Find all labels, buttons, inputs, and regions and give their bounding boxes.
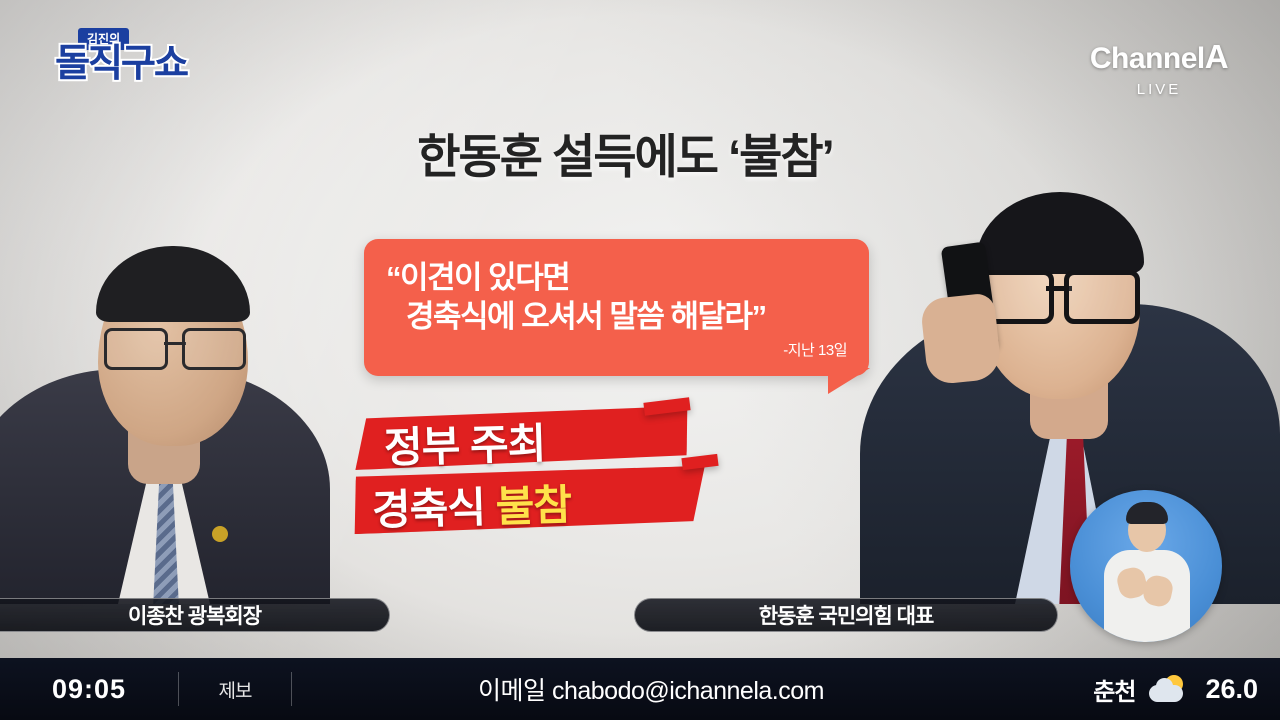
- program-logo-title: 돌직구쇼: [46, 45, 196, 85]
- left-guest-glasses-icon: [102, 328, 248, 366]
- banner-line-1: 정부 주최: [383, 410, 546, 475]
- keyword-banner: 정부 주최 경축식 불참: [352, 404, 712, 546]
- right-guest-glasses-icon: [978, 270, 1140, 316]
- banner-line-2-highlight: 불참: [495, 481, 572, 530]
- tip-label: 제보: [179, 676, 291, 703]
- right-guest-hair: [976, 192, 1144, 274]
- quote-bubble-tail: [828, 368, 870, 394]
- nameplate-right: 한동훈 국민의힘 대표: [634, 598, 1058, 632]
- program-logo: 김진의 돌직구쇼 돌직구쇼: [46, 28, 196, 104]
- left-guest-lapel-badge: [212, 526, 228, 542]
- weather-city: 춘천: [1093, 672, 1135, 707]
- broadcast-screen: 김진의 돌직구쇼 돌직구쇼 ChannelA LIVE 한동훈 설득에도 ‘불참…: [0, 0, 1280, 720]
- quote-bubble: “이견이 있다면 경축식에 오셔서 말씀 해달라” -지난 13일: [364, 239, 869, 376]
- right-guest-hand: [920, 292, 1003, 385]
- quote-attribution: -지난 13일: [386, 339, 847, 360]
- banner-line-2: 경축식 불참: [371, 471, 572, 538]
- channel-name: ChannelA: [1064, 40, 1254, 74]
- banner-line-2-plain: 경축식: [371, 483, 496, 533]
- weather-temperature: 26.0: [1205, 674, 1258, 705]
- nameplate-left: 이종찬 광복회장: [0, 598, 390, 632]
- weather-widget: 춘천 26.0: [1093, 672, 1258, 707]
- channel-a-mark: A: [1205, 38, 1228, 75]
- channel-logo: ChannelA LIVE: [1064, 40, 1254, 98]
- headline-text: 한동훈 설득에도 ‘불참’: [0, 118, 1265, 187]
- left-guest-hair: [96, 246, 250, 322]
- quote-line-2: 경축식에 오셔서 말씀 해달라”: [386, 298, 847, 337]
- live-indicator: LIVE: [1064, 81, 1254, 98]
- sun-cloud-icon: [1149, 675, 1191, 703]
- quote-line-1: “이견이 있다면: [386, 259, 847, 298]
- clock-display: 09:05: [0, 674, 178, 705]
- sign-language-interpreter: [1070, 490, 1222, 642]
- bottom-ticker-bar: 09:05 제보 이메일 chabodo@ichannela.com 춘천 26…: [0, 658, 1280, 720]
- channel-name-text: Channel: [1090, 42, 1205, 75]
